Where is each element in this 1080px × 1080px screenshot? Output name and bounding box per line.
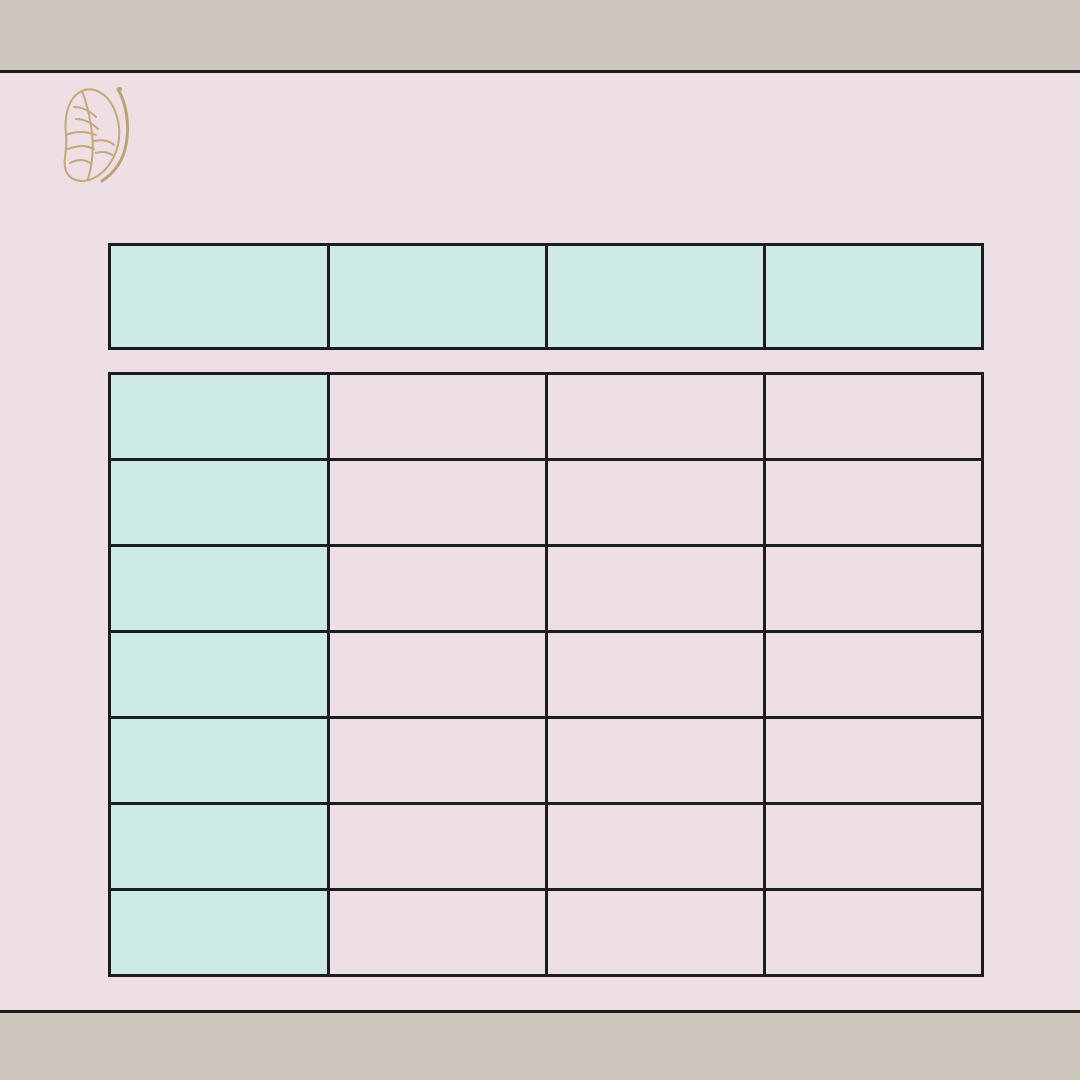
table-row [110, 804, 983, 890]
cell-waist [547, 546, 765, 632]
cell-size [110, 546, 329, 632]
column-header-chest [329, 245, 547, 349]
cell-size [110, 632, 329, 718]
size-table-body [108, 372, 984, 977]
cell-size [110, 804, 329, 890]
size-table-header [108, 243, 984, 350]
cell-hip [765, 890, 983, 976]
table-header-row [110, 245, 983, 349]
bottom-gradient-bar [108, 1013, 1080, 1080]
top-gradient-bar [0, 0, 971, 70]
cell-waist [547, 890, 765, 976]
cell-chest [329, 546, 547, 632]
cell-size [110, 374, 329, 460]
butterfly-wing-icon [52, 83, 148, 188]
cell-hip [765, 718, 983, 804]
cell-waist [547, 374, 765, 460]
table-row [110, 718, 983, 804]
table-row [110, 632, 983, 718]
cell-hip [765, 460, 983, 546]
cell-chest [329, 890, 547, 976]
cell-waist [547, 632, 765, 718]
column-header-waist [547, 245, 765, 349]
cell-chest [329, 632, 547, 718]
cell-size [110, 460, 329, 546]
table-row [110, 890, 983, 976]
cell-size [110, 890, 329, 976]
cell-chest [329, 460, 547, 546]
cell-hip [765, 804, 983, 890]
table-row [110, 460, 983, 546]
poster-canvas [0, 73, 1080, 1010]
cell-waist [547, 460, 765, 546]
table-row [110, 374, 983, 460]
brand-logo [30, 83, 170, 192]
table-row [110, 546, 983, 632]
cell-waist [547, 804, 765, 890]
column-header-hip [765, 245, 983, 349]
cell-hip [765, 374, 983, 460]
size-chart-poster [0, 0, 1080, 1080]
cell-size [110, 718, 329, 804]
cell-waist [547, 718, 765, 804]
cell-chest [329, 804, 547, 890]
cell-chest [329, 374, 547, 460]
cell-hip [765, 546, 983, 632]
column-header-size [110, 245, 329, 349]
cell-chest [329, 718, 547, 804]
cell-hip [765, 632, 983, 718]
